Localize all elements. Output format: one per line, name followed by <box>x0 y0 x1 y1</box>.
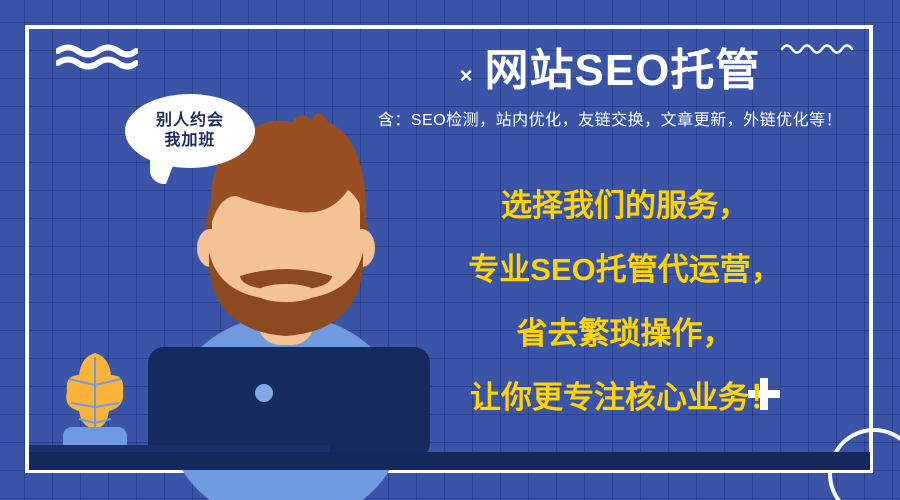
seo-hosting-banner: 别人约会 我加班 × 网站SEO托管 含：SEO检测，站内优化，友链交换，文章更… <box>0 0 900 500</box>
desk-surface <box>29 452 870 470</box>
slogan-block: 选择我们的服务， 专业SEO托管代运营， 省去繁琐操作， 让你更专注核心业务！ <box>410 190 840 413</box>
title-bullet-x-icon: × <box>460 65 473 87</box>
page-title: 网站SEO托管 <box>484 48 760 94</box>
slogan-line-2: 专业SEO托管代运营， <box>410 254 840 285</box>
slogan-line-3: 省去繁琐操作， <box>410 318 840 349</box>
slogan-line-1: 选择我们的服务， <box>410 190 840 221</box>
slogan-line-4: 让你更专注核心业务！ <box>410 382 840 413</box>
headline-block: × 网站SEO托管 含：SEO检测，站内优化，友链交换，文章更新，外链优化等！ <box>330 48 890 130</box>
title-row: × 网站SEO托管 <box>330 48 890 94</box>
page-subtitle: 含：SEO检测，站内优化，友链交换，文章更新，外链优化等！ <box>330 106 890 130</box>
speech-bubble-line-2: 我加班 <box>164 131 215 151</box>
speech-bubble: 别人约会 我加班 <box>125 94 255 168</box>
speech-bubble-line-1: 别人约会 <box>156 111 224 131</box>
plant-illustration <box>55 345 135 455</box>
